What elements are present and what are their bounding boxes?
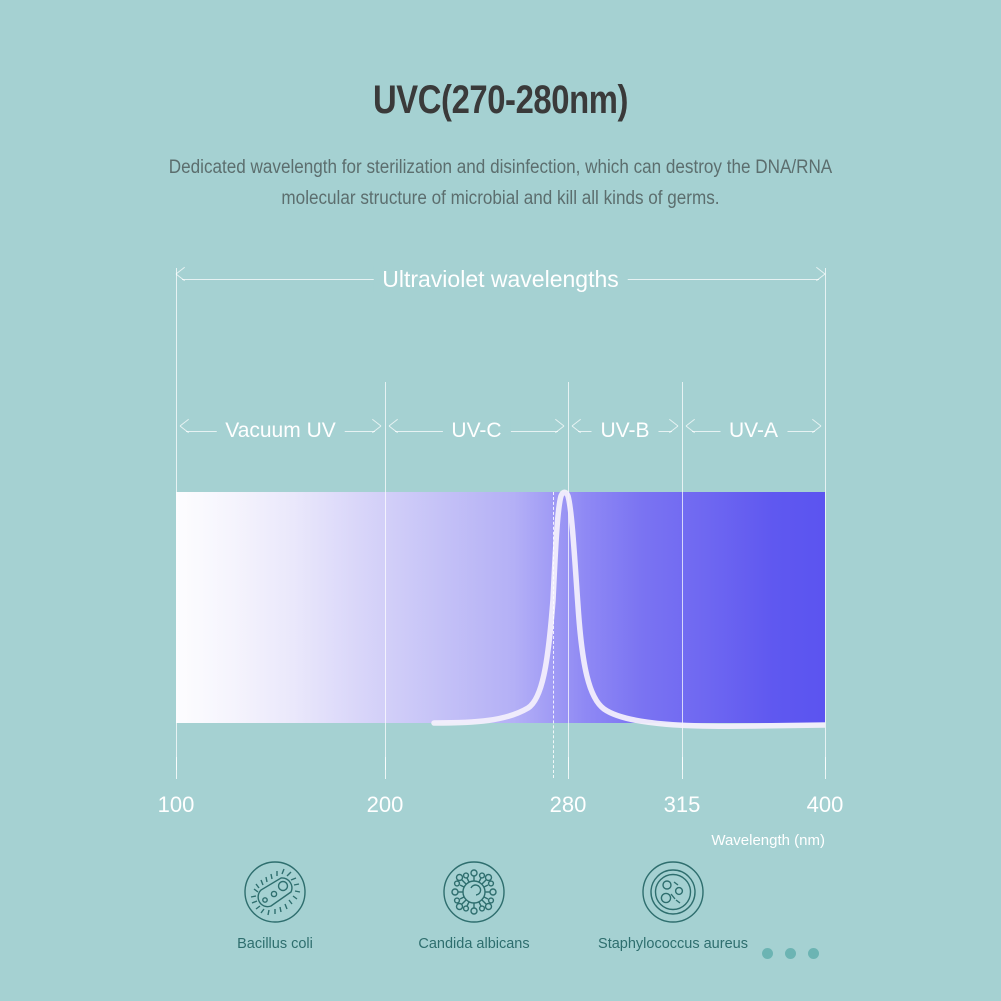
range-arrow-uv-c: UV-C: [389, 418, 564, 444]
germ-label: Candida albicans: [399, 935, 549, 953]
germ-label: Staphylococcus aureus: [598, 935, 748, 953]
range-arrow-uv-a: UV-A: [686, 418, 821, 444]
arrow-head-left-icon: [180, 426, 191, 437]
axis-tick-label-200: 200: [367, 792, 404, 818]
range-label-uv-b: UV-B: [591, 418, 658, 444]
range-label-vacuum-uv: Vacuum UV: [216, 418, 345, 444]
axis-tick-label-315: 315: [664, 792, 701, 818]
staphylococcus-icon: [641, 860, 705, 924]
axis-tick-100: [176, 757, 177, 779]
bacillus-icon: [243, 860, 307, 924]
germ-label: Bacillus coli: [200, 935, 350, 953]
axis-tick-200: [385, 757, 386, 779]
more-germs-indicator[interactable]: [762, 948, 819, 959]
range-arrow-uv-b: UV-B: [572, 418, 678, 444]
axis-tick-label-400: 400: [807, 792, 844, 818]
arrow-head-left-icon: [686, 426, 697, 437]
dot-3-icon: [808, 948, 819, 959]
range-label-uv-c: UV-C: [442, 418, 510, 444]
dot-2-icon: [785, 948, 796, 959]
axis-tick-label-280: 280: [550, 792, 587, 818]
axis-tick-label-100: 100: [158, 792, 195, 818]
range-arrow-vacuum-uv: Vacuum UV: [180, 418, 381, 444]
uvc-infographic: UVC(270-280nm) Dedicated wavelength for …: [0, 0, 1001, 1001]
axis-tick-315: [682, 757, 683, 779]
range-arrow-ultraviolet: Ultraviolet wavelengths: [176, 266, 825, 292]
arrow-head-left-icon: [572, 426, 583, 437]
axis-tick-400: [825, 757, 826, 779]
axis-caption: Wavelength (nm): [711, 832, 825, 849]
range-label-ultraviolet: Ultraviolet wavelengths: [373, 266, 628, 292]
arrow-head-right-icon: [553, 426, 564, 437]
arrow-head-left-icon: [389, 426, 400, 437]
candida-icon: [442, 860, 506, 924]
axis-tick-280: [568, 757, 569, 779]
germ-item-staphylococcus-aureus[interactable]: Staphylococcus aureus: [598, 860, 748, 953]
germ-item-bacillus-coli[interactable]: Bacillus coli: [200, 860, 350, 953]
dot-1-icon: [762, 948, 773, 959]
grid-line-400: [825, 268, 826, 770]
arrow-head-right-icon: [370, 426, 381, 437]
emission-peak-curve: [176, 480, 825, 730]
range-label-uv-a: UV-A: [720, 418, 787, 444]
arrow-head-right-icon: [814, 274, 825, 285]
arrow-head-right-icon: [810, 426, 821, 437]
uv-spectrum-chart: Ultraviolet wavelengths Vacuum UV UV-C U…: [0, 0, 1001, 1001]
germ-list: Bacillus coli: [0, 860, 1001, 990]
peak-marker-line: [553, 492, 554, 778]
germ-item-candida-albicans[interactable]: Candida albicans: [399, 860, 549, 953]
arrow-head-left-icon: [176, 274, 187, 285]
arrow-head-right-icon: [667, 426, 678, 437]
